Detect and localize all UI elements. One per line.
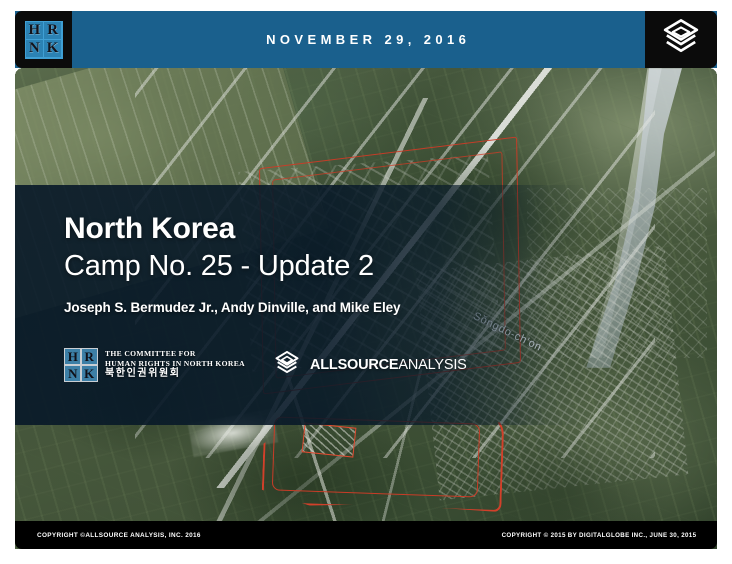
authors-line: Joseph S. Bermudez Jr., Andy Dinville, a… [64, 300, 717, 315]
hrnk-cell-n: N [65, 366, 80, 381]
hrnk-wordmark: THE COMMITTEE FOR HUMAN RIGHTS IN NORTH … [105, 349, 245, 381]
hrnk-logo-icon: H R N K [25, 21, 63, 59]
allsource-layers-icon [273, 349, 301, 382]
allsource-name-bold: ALLSOURCE [310, 357, 398, 373]
hrnk-line-2: HUMAN RIGHTS IN NORTH KOREA [105, 359, 245, 369]
hrnk-cell-n: N [26, 40, 43, 57]
copyright-right-text: COPYRIGHT © 2015 BY DIGITALGLOBE INC., J… [502, 532, 697, 539]
hrnk-line-1: THE COMMITTEE FOR [105, 349, 245, 359]
allsource-layers-icon [661, 17, 701, 62]
header-allsource-logo[interactable] [645, 11, 717, 68]
title-content: North Korea Camp No. 25 - Update 2 Josep… [15, 185, 717, 425]
hrnk-cell-r: R [44, 22, 61, 39]
hrnk-cell-k: K [82, 366, 97, 381]
hrnk-cell-r: R [82, 349, 97, 364]
header-hrnk-logo[interactable]: H R N K [15, 11, 72, 68]
page-title: North Korea [64, 214, 717, 244]
copyright-left-text: COPYRIGHT ©ALLSOURCE ANALYSIS, INC. 2016 [37, 532, 201, 539]
logo-row: H R N K THE COMMITTEE FOR HUMAN RIGHTS I… [64, 348, 467, 382]
hrnk-line-korean: 북한인권위원회 [105, 368, 245, 381]
report-cover-page: Sŏngdo-ch'on North Korea Camp No. 25 - U… [0, 0, 732, 564]
copyright-bar-left: COPYRIGHT ©ALLSOURCE ANALYSIS, INC. 2016 [15, 521, 481, 549]
copyright-bar-right: COPYRIGHT © 2015 BY DIGITALGLOBE INC., J… [481, 521, 717, 549]
satellite-imagery-background: Sŏngdo-ch'on North Korea Camp No. 25 - U… [15, 68, 717, 549]
hrnk-logo-icon: H R N K [64, 348, 98, 382]
hrnk-cell-h: H [65, 349, 80, 364]
hrnk-cell-h: H [26, 22, 43, 39]
camp-core-buildings [302, 422, 357, 457]
header-date: NOVEMBER 29, 2016 [15, 11, 717, 68]
allsource-name-light: ANALYSIS [398, 357, 466, 373]
hrnk-logo-lockup: H R N K THE COMMITTEE FOR HUMAN RIGHTS I… [64, 348, 245, 382]
corner-mask-top-left [15, 68, 23, 76]
page-header: NOVEMBER 29, 2016 H R N K [15, 11, 717, 68]
corner-mask-top-right [709, 68, 717, 76]
allsource-wordmark: ALLSOURCEANALYSIS [310, 357, 467, 373]
hrnk-cell-k: K [44, 40, 61, 57]
allsource-logo-lockup: ALLSOURCEANALYSIS [273, 349, 467, 382]
page-subtitle: Camp No. 25 - Update 2 [64, 252, 717, 281]
